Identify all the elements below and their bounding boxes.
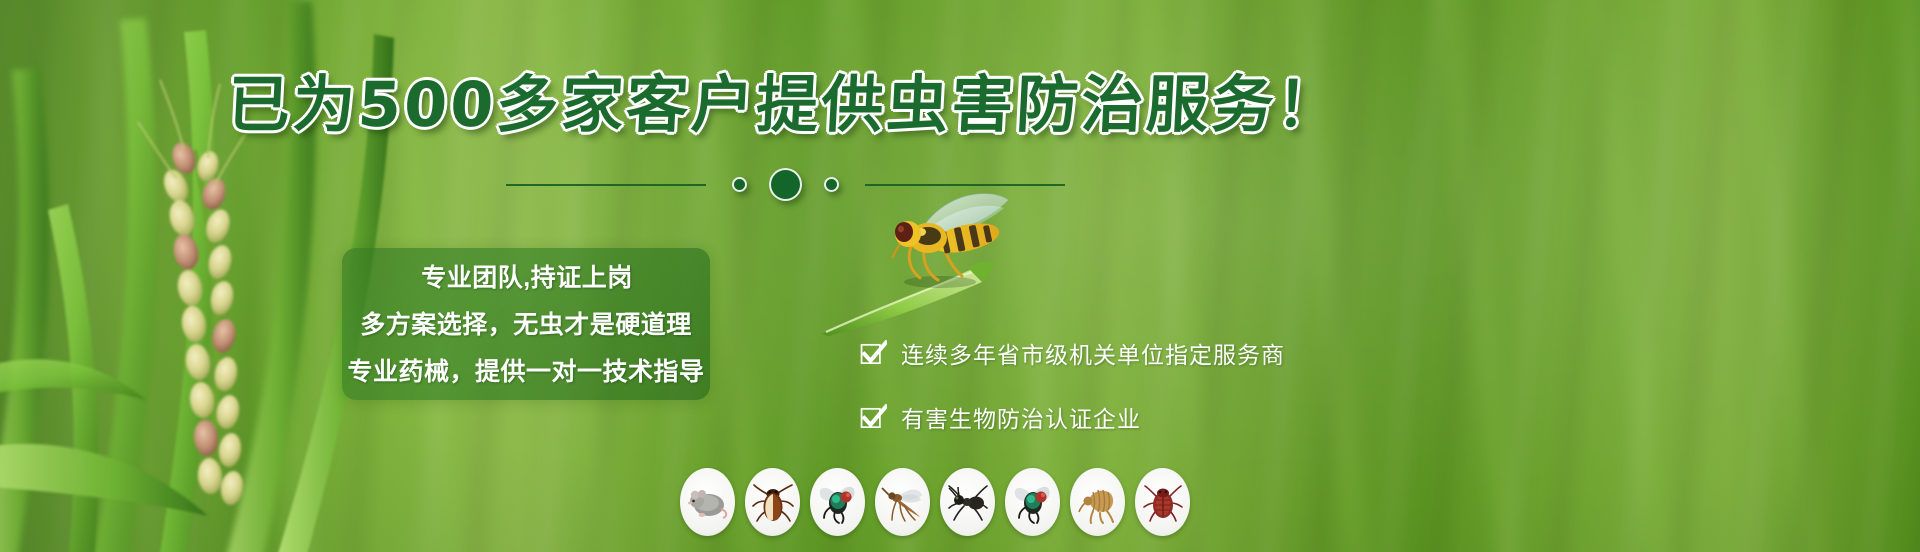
divider-left-line <box>506 184 706 186</box>
checkbox-checked-icon <box>860 404 887 431</box>
pest-icon-fly[interactable] <box>1005 468 1060 536</box>
pest-icon-flea[interactable] <box>1070 468 1125 536</box>
small-dot-icon <box>732 177 747 192</box>
feature-box-text: 专业团队,持证上岗 多方案选择，无虫才是硬道理 专业药械，提供一对一技术指导 <box>342 248 710 400</box>
feature-line-3: 专业药械，提供一对一技术指导 <box>342 352 710 388</box>
large-dot-icon <box>769 168 802 201</box>
checkbox-checked-icon <box>860 340 887 367</box>
check-label: 连续多年省市级机关单位指定服务商 <box>901 336 1285 370</box>
pest-icon-cockroach[interactable] <box>745 468 800 536</box>
list-item: 连续多年省市级机关单位指定服务商 <box>860 336 1560 370</box>
checklist: 连续多年省市级机关单位指定服务商 有害生物防治认证企业 <box>860 336 1560 464</box>
check-label: 有害生物防治认证企业 <box>901 400 1141 434</box>
pest-icon-mouse[interactable] <box>680 468 735 536</box>
decorative-divider <box>0 168 1570 201</box>
list-item: 有害生物防治认证企业 <box>860 400 1560 434</box>
pest-icon-mosquito[interactable] <box>875 468 930 536</box>
pest-icon-strip <box>680 468 1190 536</box>
page-title: 已为500多家客户提供虫害防治服务！ <box>227 72 1344 137</box>
headline-container: 已为500多家客户提供虫害防治服务！ <box>0 72 1570 137</box>
pest-icon-fly[interactable] <box>810 468 865 536</box>
hoverfly-on-leaf-icon <box>820 186 1080 336</box>
pest-icon-bedbug[interactable] <box>1135 468 1190 536</box>
feature-line-1: 专业团队,持证上岗 <box>342 258 710 294</box>
feature-line-2: 多方案选择，无虫才是硬道理 <box>342 305 710 341</box>
pest-icon-ant[interactable] <box>940 468 995 536</box>
promo-banner: 已为500多家客户提供虫害防治服务！ 专业团队,持证上岗 多方案选择，无虫才是硬… <box>0 0 1920 552</box>
